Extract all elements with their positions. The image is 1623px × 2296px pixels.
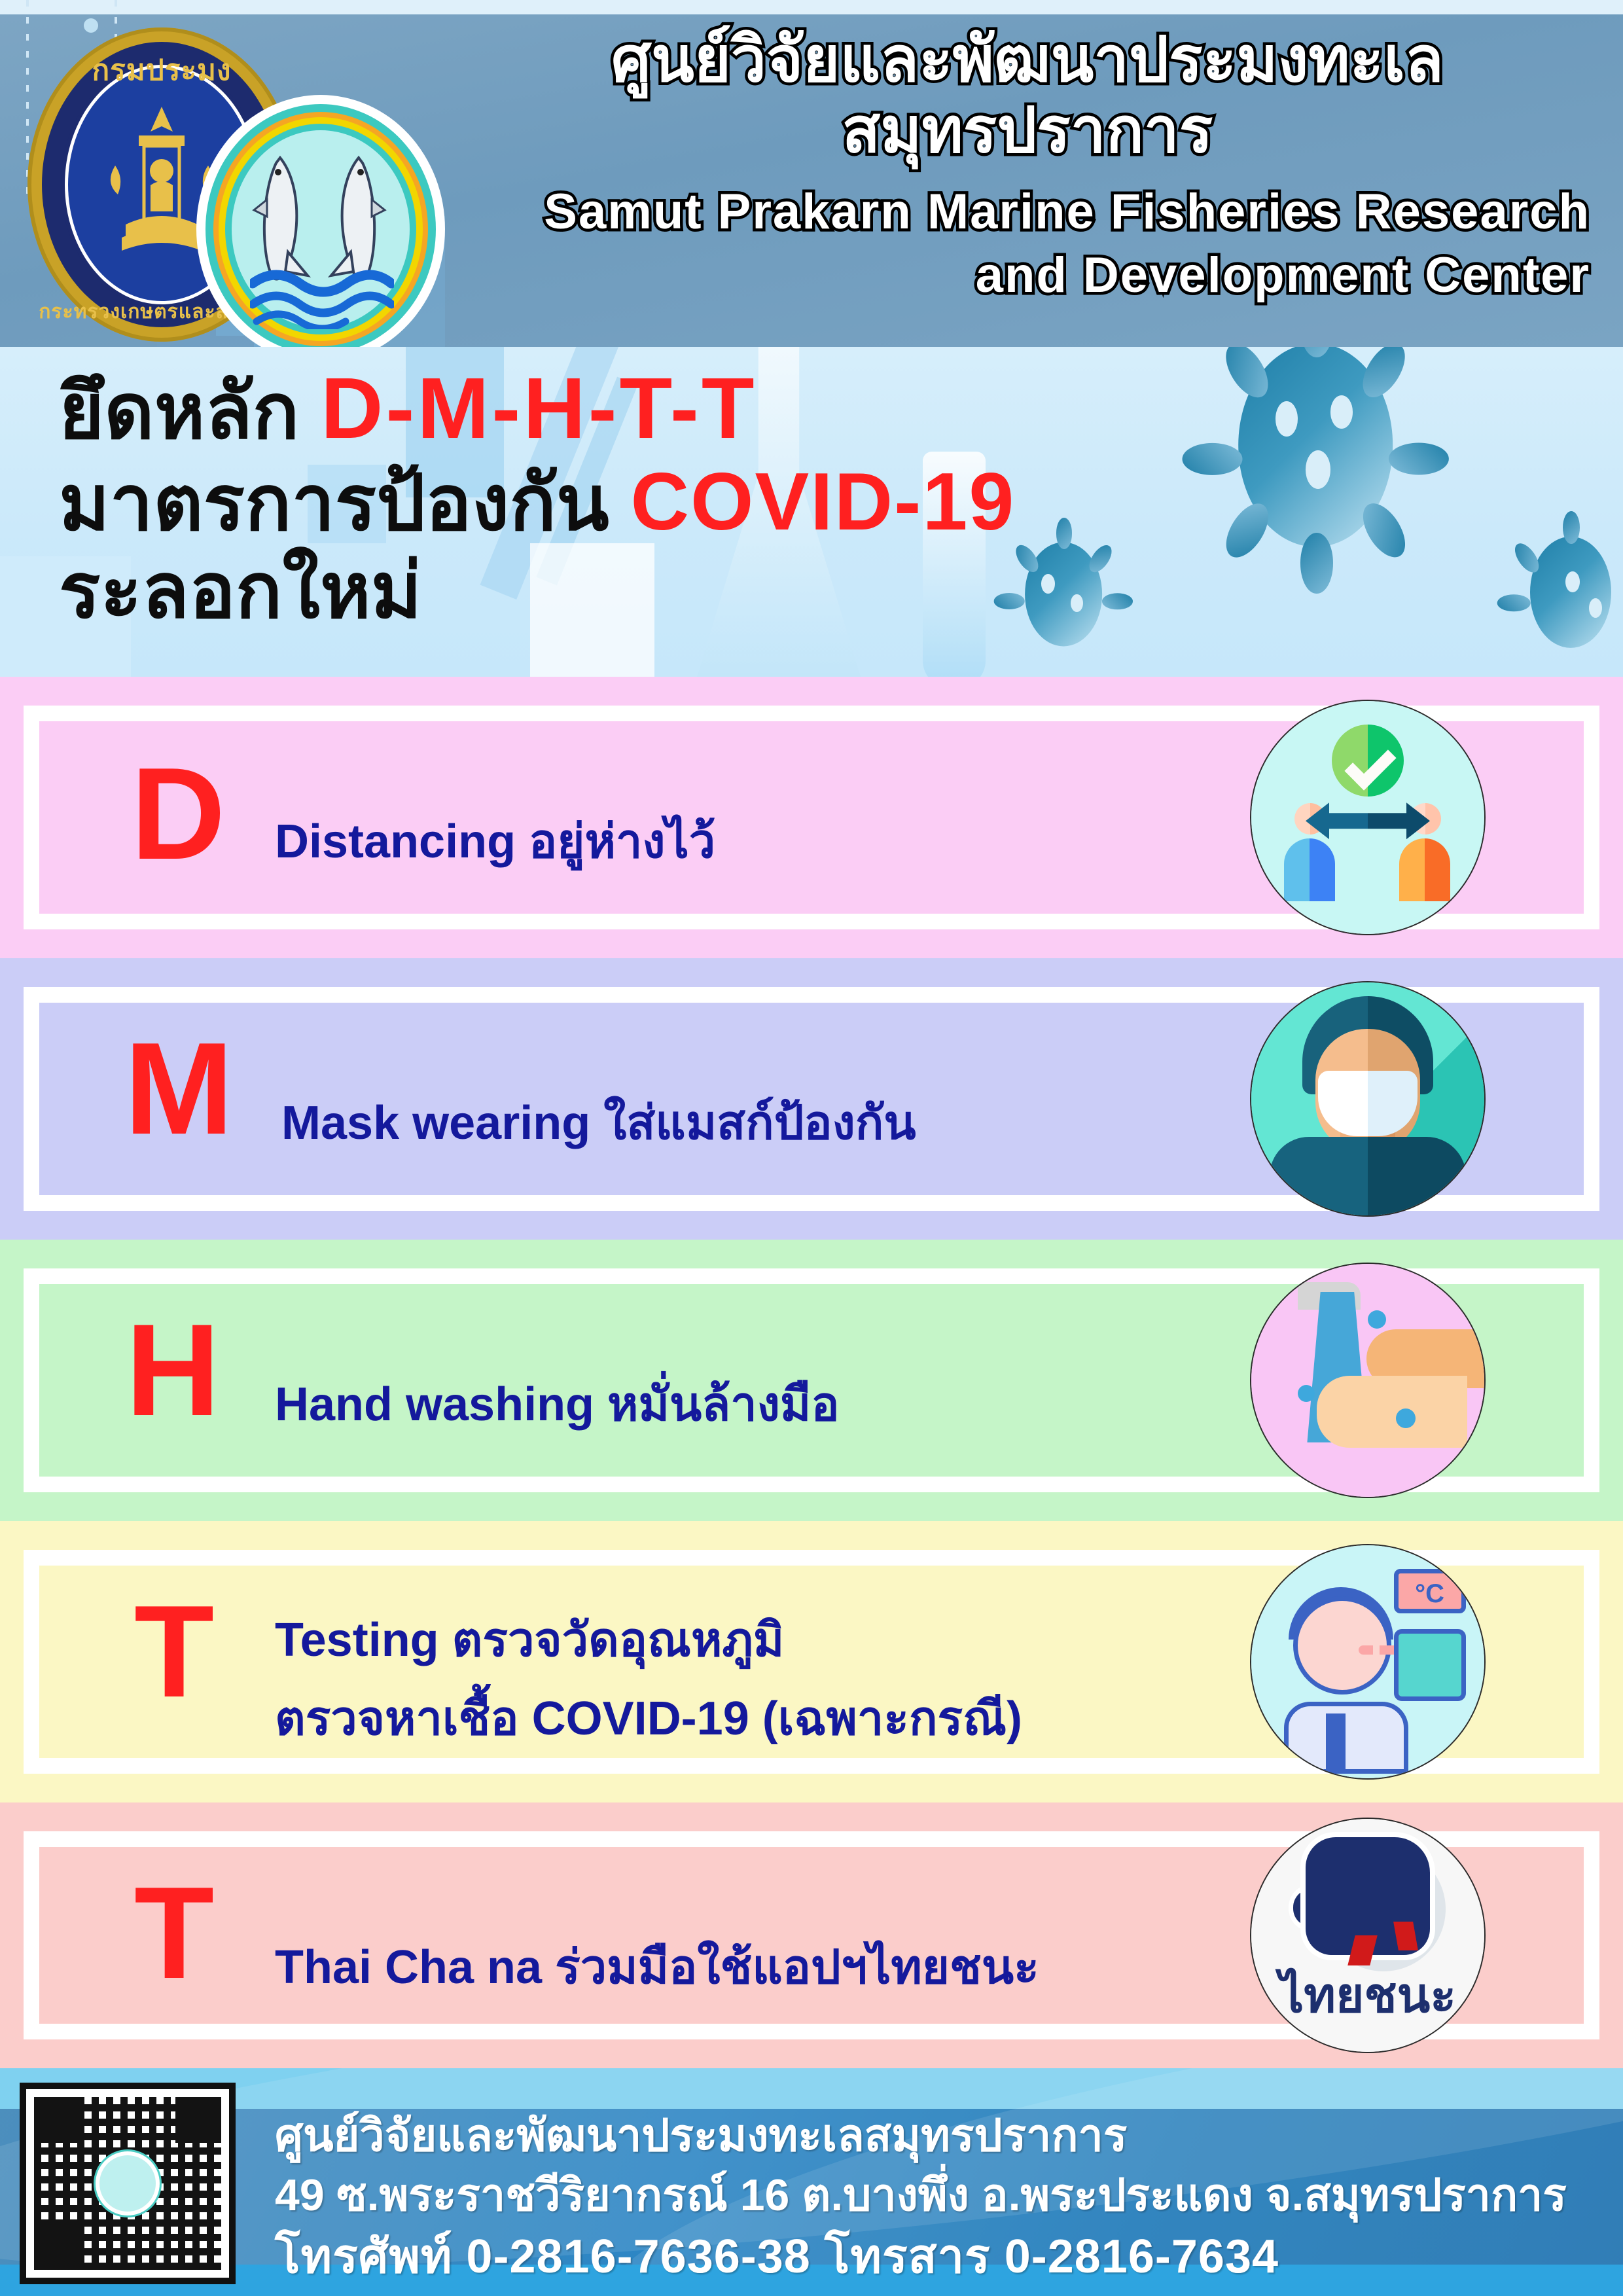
double-arrow-icon	[1329, 813, 1406, 829]
main-title: ยึดหลัก D-M-H-T-T มาตรการป้องกัน COVID-1…	[59, 360, 1015, 634]
scan-person-shirt	[1284, 1702, 1408, 1774]
title-covid-accent: COVID-19	[630, 457, 1015, 547]
water-drop-3	[1396, 1408, 1416, 1428]
measure-letter-t-testing: T	[134, 1587, 214, 1717]
virus-spike	[1102, 593, 1133, 609]
water-drop	[1368, 1310, 1386, 1329]
qr-finder-bottom-left	[34, 2224, 80, 2270]
virus-body	[1530, 537, 1611, 648]
hand-washing-icon	[1250, 1263, 1486, 1498]
social-distancing-icon	[1250, 700, 1486, 935]
virus-spike	[1389, 442, 1449, 475]
measure-row-m: M Mask wearing ใส่แมสก์ป้องกัน	[0, 958, 1623, 1240]
measure-label-t-testing-line2: ตรวจหาเชื้อ COVID-19 (เฉพาะกรณี)	[275, 1685, 1022, 1753]
measure-row-h: H Hand washing หมั่นล้างมือ	[0, 1240, 1623, 1521]
face-mask-shape	[1318, 1071, 1418, 1136]
virus-hole	[1589, 598, 1602, 618]
measure-letter-d: D	[131, 749, 225, 880]
title-line-3: ระลอกใหม่	[59, 548, 1015, 634]
person-body	[1284, 838, 1335, 901]
header-titles: ศูนย์วิจัยและพัฒนาประมงทะเลสมุทรปราการ S…	[452, 25, 1603, 308]
title-band: ยึดหลัก D-M-H-T-T มาตรการป้องกัน COVID-1…	[0, 347, 1623, 677]
title-line1-prefix: ยึดหลัก	[59, 368, 299, 455]
person-wearing-mask-icon	[1250, 981, 1486, 1217]
poster: กรมประมง กระทรวงเกษตรและสหกรณ์	[0, 0, 1623, 2296]
virus-icon-small	[1001, 524, 1126, 664]
header-title-english-line2: and Development Center	[452, 243, 1590, 307]
torso-shape	[1270, 1137, 1466, 1215]
footer-address: 49 ซ.พระราชวีริยากรณ์ 16 ต.บางพึ่ง อ.พระ…	[275, 2166, 1567, 2225]
measure-letter-t-thaichana: T	[134, 1868, 214, 1999]
thaichana-illustration: ไทยชนะ	[1251, 1819, 1484, 2052]
virus-spike	[1300, 533, 1332, 593]
thermometer-scan-icon: °C	[1250, 1544, 1486, 1780]
thai-chana-fist-icon: ไทยชนะ	[1250, 1818, 1486, 2053]
thermometer-gun-shape	[1394, 1629, 1466, 1701]
measure-label-d: Distancing อยู่ห่างไว้	[275, 808, 715, 876]
virus-body	[1025, 542, 1102, 646]
temperature-illustration: °C	[1251, 1545, 1484, 1778]
qr-pattern	[34, 2097, 221, 2270]
measure-label-h: Hand washing หมั่นล้างมือ	[275, 1371, 840, 1439]
measure-label-t-testing-line1: Testing ตรวจวัดอุณหภูมิ	[275, 1606, 784, 1674]
center-fish-logo	[196, 95, 445, 347]
header-title-thai: ศูนย์วิจัยและพัฒนาประมงทะเลสมุทรปราการ	[452, 25, 1603, 166]
title-line-2: มาตรการป้องกัน COVID-19	[59, 457, 1015, 548]
measure-letter-h: H	[126, 1305, 220, 1436]
lower-hand-shape	[1317, 1376, 1467, 1448]
qr-finder-top-right	[175, 2097, 221, 2143]
qr-center-logo	[99, 2155, 156, 2212]
virus-hole	[1041, 574, 1055, 594]
measure-row-d: D Distancing อยู่ห่างไว้	[0, 677, 1623, 958]
footer-org-name: ศูนย์วิจัยและพัฒนาประมงทะเลสมุทรปราการ	[275, 2106, 1567, 2166]
virus-spike	[1182, 442, 1242, 475]
title-line2-prefix: มาตรการป้องกัน	[59, 460, 609, 547]
title-dmhtt-accent: D-M-H-T-T	[321, 360, 757, 456]
measure-label-t-thaichana: Thai Cha na ร่วมมือใช้แอปฯไทยชนะ	[275, 1933, 1039, 2001]
poster-header: กรมประมง กระทรวงเกษตรและสหกรณ์	[0, 0, 1623, 347]
temperature-badge: °C	[1394, 1569, 1466, 1613]
qr-finder-top-left	[34, 2097, 80, 2143]
handwash-illustration	[1251, 1264, 1484, 1497]
measure-row-t-thaichana: T Thai Cha na ร่วมมือใช้แอปฯไทยชนะ ไทยชน…	[0, 1803, 1623, 2068]
qr-code[interactable]	[20, 2083, 236, 2284]
virus-spike	[1563, 511, 1580, 545]
poster-footer: ศูนย์วิจัยและพัฒนาประมงทะเลสมุทรปราการ 4…	[0, 2068, 1623, 2296]
thai-chana-label: ไทยชนะ	[1251, 1956, 1484, 2034]
header-title-english-line1: Samut Prakarn Marine Fisheries Research	[452, 180, 1590, 243]
measure-label-m: Mask wearing ใส่แมสก์ป้องกัน	[281, 1089, 916, 1157]
necktie-shape	[1326, 1713, 1346, 1774]
virus-spike	[1056, 518, 1073, 548]
person-body	[1399, 838, 1450, 901]
header-top-strip	[0, 0, 1623, 14]
virus-spike	[1497, 594, 1531, 611]
measure-row-t-testing: T Testing ตรวจวัดอุณหภูมิ ตรวจหาเชื้อ CO…	[0, 1521, 1623, 1803]
virus-icon-large	[1191, 347, 1440, 583]
measure-letter-m: M	[124, 1024, 234, 1155]
green-check-icon	[1332, 725, 1404, 797]
virus-hole	[1330, 395, 1353, 428]
distancing-illustration	[1251, 701, 1484, 934]
virus-hole	[1565, 571, 1580, 592]
virus-icon-right	[1505, 517, 1623, 668]
mask-illustration	[1251, 982, 1484, 1215]
seal-text-top: กรมประมง	[27, 47, 296, 93]
virus-hole	[1306, 450, 1330, 489]
footer-contact: ศูนย์วิจัยและพัฒนาประมงทะเลสมุทรปราการ 4…	[275, 2106, 1567, 2289]
footer-phone: โทรศัพท์ 0-2816-7636-38 โทรสาร 0-2816-76…	[275, 2225, 1567, 2288]
title-line-1: ยึดหลัก D-M-H-T-T	[59, 360, 1015, 457]
